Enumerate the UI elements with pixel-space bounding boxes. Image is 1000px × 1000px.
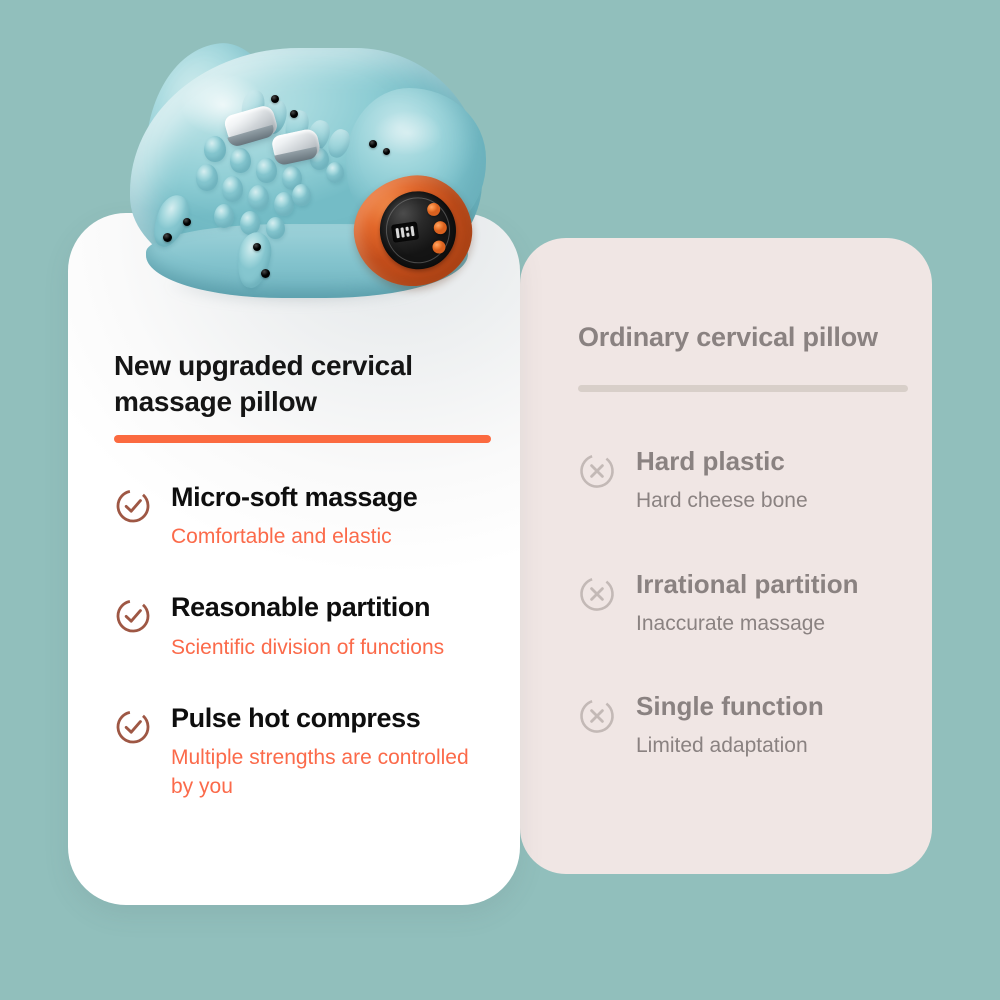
pillow-nub — [248, 185, 269, 210]
feature-title: Pulse hot compress — [171, 704, 494, 732]
page-title: New upgraded cervical massage pillow — [114, 348, 494, 420]
pillow-nub — [204, 136, 226, 162]
pillow-nub — [222, 176, 243, 202]
feature-title: Reasonable partition — [171, 593, 444, 621]
check-circle-icon — [114, 597, 152, 635]
sensor-dot — [290, 110, 298, 118]
ordinary-pillow-card: Ordinary cervical pillow Hard plastic Ha… — [520, 238, 932, 874]
pillow-nub — [214, 204, 234, 228]
pillow-nub — [292, 184, 311, 206]
feature-title: Micro-soft massage — [171, 483, 417, 511]
x-circle-icon — [578, 575, 616, 613]
feature-title: Hard plastic — [636, 448, 808, 475]
feature-subtitle: Scientific division of functions — [171, 634, 444, 662]
infographic-canvas: Ordinary cervical pillow Hard plastic Ha… — [0, 0, 1000, 1000]
feature-subtitle: Inaccurate massage — [636, 611, 858, 637]
pillow-nub — [326, 162, 344, 183]
feature-subtitle: Multiple strengths are controlled by you — [171, 744, 494, 801]
accent-divider — [114, 435, 491, 443]
control-panel — [375, 186, 461, 274]
pillow-nub — [266, 217, 285, 239]
sensor-dot — [261, 269, 270, 278]
upgraded-feature-list: Micro-soft massage Comfortable and elast… — [114, 483, 494, 801]
ordinary-card-content: Ordinary cervical pillow Hard plastic Ha… — [578, 322, 918, 760]
list-item: Hard plastic Hard cheese bone — [578, 448, 918, 515]
feature-title: Single function — [636, 693, 824, 720]
ordinary-card-title: Ordinary cervical pillow — [578, 322, 918, 353]
list-item: Irrational partition Inaccurate massage — [578, 571, 918, 638]
check-circle-icon — [114, 708, 152, 746]
sensor-dot — [163, 233, 172, 242]
pillow-nub — [256, 158, 277, 183]
list-item: Reasonable partition Scientific division… — [114, 593, 494, 662]
feature-subtitle: Limited adaptation — [636, 733, 824, 759]
list-item: Micro-soft massage Comfortable and elast… — [114, 483, 494, 552]
sensor-dot — [253, 243, 261, 251]
pillow-nub — [274, 192, 294, 216]
x-circle-icon — [578, 697, 616, 735]
ordinary-card-divider — [578, 385, 908, 392]
feature-subtitle: Comfortable and elastic — [171, 523, 417, 551]
new-upgraded-card-content: New upgraded cervical massage pillow Mic… — [114, 348, 494, 801]
x-circle-icon — [578, 452, 616, 490]
sensor-dot — [183, 218, 191, 226]
sensor-dot — [383, 148, 390, 155]
pillow-nub — [230, 148, 251, 173]
ordinary-feature-list: Hard plastic Hard cheese bone Irrational… — [578, 448, 918, 760]
feature-title: Irrational partition — [636, 571, 858, 598]
list-item: Single function Limited adaptation — [578, 693, 918, 760]
display-screen — [391, 221, 419, 242]
list-item: Pulse hot compress Multiple strengths ar… — [114, 704, 494, 801]
check-circle-icon — [114, 487, 152, 525]
sensor-dot — [369, 140, 377, 148]
sensor-dot — [271, 95, 279, 103]
pillow-nub — [196, 164, 218, 191]
feature-subtitle: Hard cheese bone — [636, 488, 808, 514]
product-image-cervical-massage-pillow — [110, 28, 510, 318]
